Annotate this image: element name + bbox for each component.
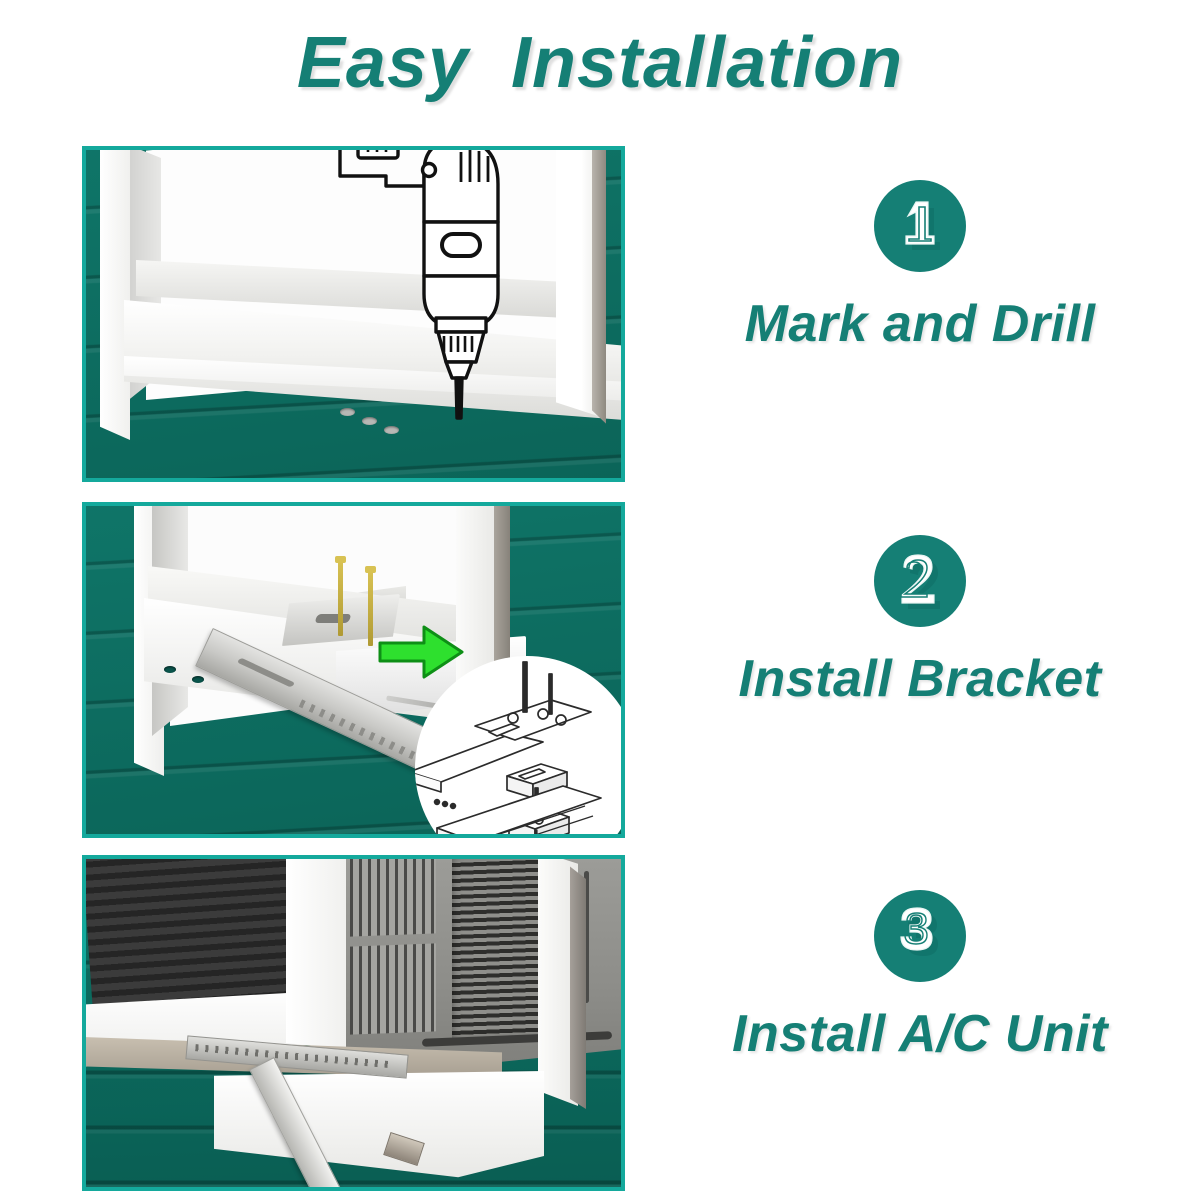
step-2: Install Bracket <box>640 535 1200 709</box>
step-badge-2 <box>874 535 966 627</box>
screw-icon <box>338 560 343 636</box>
panel-install-bracket <box>82 502 625 838</box>
panel-install-ac-unit <box>82 855 625 1191</box>
ac-vent-upper <box>350 859 436 937</box>
step-badge-3 <box>874 890 966 982</box>
drill-hole <box>192 676 204 683</box>
scene-install-bracket <box>86 506 621 834</box>
ac-vent-lower <box>350 943 436 1034</box>
screw-icon <box>368 570 373 646</box>
drill-hole <box>164 666 176 673</box>
step-1: Mark and Drill <box>640 180 1200 354</box>
number-one-icon <box>874 180 966 272</box>
scene-mark-and-drill <box>86 150 621 478</box>
window-frame-right-edge <box>570 859 586 1109</box>
window-frame-center <box>286 859 346 1049</box>
window-frame-left <box>100 150 130 440</box>
number-two-icon <box>874 535 966 627</box>
window-frame-right-edge <box>592 150 606 450</box>
page-title: Easy Installation <box>0 22 1200 104</box>
scene-install-ac-unit <box>86 859 621 1187</box>
step-label-3: Install A/C Unit <box>640 1004 1200 1064</box>
step-badge-1 <box>874 180 966 272</box>
bracket-slot <box>237 658 296 688</box>
step-label-2: Install Bracket <box>640 649 1200 709</box>
drill-icon <box>332 150 542 472</box>
bracket-plate-slot <box>314 614 351 623</box>
step-3: Install A/C Unit <box>640 890 1200 1064</box>
number-three-icon <box>874 890 966 982</box>
panel-mark-and-drill <box>82 146 625 482</box>
green-arrow-icon <box>378 621 464 683</box>
step-label-1: Mark and Drill <box>640 294 1200 354</box>
